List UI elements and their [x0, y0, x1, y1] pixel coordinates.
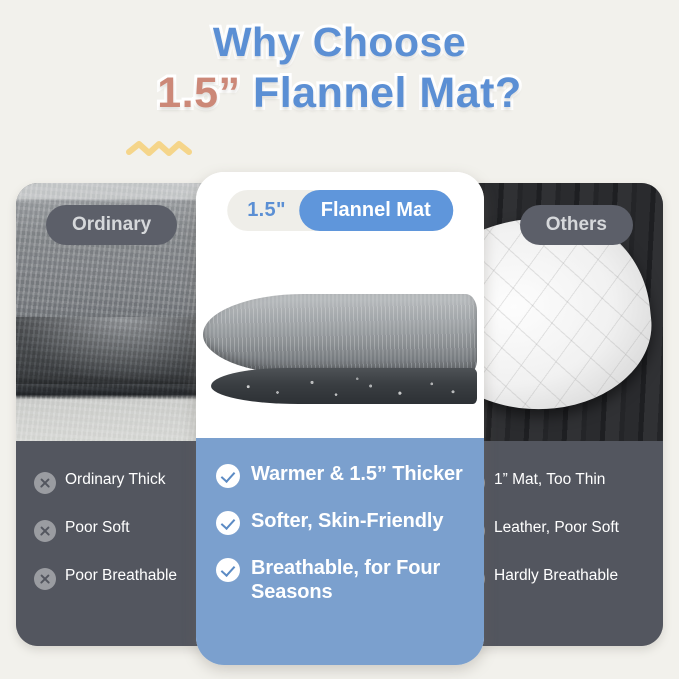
- list-item-label: 1” Mat, Too Thin: [494, 471, 605, 490]
- check-circle-icon: [216, 464, 240, 488]
- list-item: Breathable, for Four Seasons: [216, 556, 466, 605]
- list-item-label: Breathable, for Four Seasons: [251, 556, 466, 605]
- mat-top-layer: [203, 294, 477, 374]
- flannel-mat-product-image: [203, 276, 477, 404]
- list-item-label: Poor Soft: [65, 519, 130, 538]
- badge-thickness-label: 1.5": [227, 199, 299, 222]
- cross-circle-icon: [34, 472, 56, 494]
- list-item-label: Leather, Poor Soft: [494, 519, 619, 538]
- comparison-cards: Ordinary Ordinary Thick Poor Soft Poor B…: [0, 0, 679, 679]
- list-item: Softer, Skin-Friendly: [216, 509, 466, 535]
- list-item-label: Poor Breathable: [65, 567, 177, 586]
- check-circle-icon: [216, 558, 240, 582]
- mat-base-layer: [211, 368, 477, 404]
- flannel-mat-photo: 1.5" Flannel Mat: [196, 172, 484, 438]
- list-item: Warmer & 1.5” Thicker: [216, 462, 466, 488]
- list-item-label: Softer, Skin-Friendly: [251, 509, 443, 533]
- list-item-label: Warmer & 1.5” Thicker: [251, 462, 463, 486]
- badge-product-label: Flannel Mat: [299, 190, 453, 231]
- flannel-mat-feature-list: Warmer & 1.5” Thicker Softer, Skin-Frien…: [196, 438, 484, 665]
- comparison-column-flannel-mat: 1.5" Flannel Mat Warmer & 1.5” Thicker S…: [196, 172, 484, 665]
- cross-circle-icon: [34, 568, 56, 590]
- list-item-label: Hardly Breathable: [494, 567, 618, 586]
- flannel-mat-badge: 1.5" Flannel Mat: [227, 190, 453, 231]
- cross-circle-icon: [34, 520, 56, 542]
- list-item-label: Ordinary Thick: [65, 471, 166, 490]
- check-circle-icon: [216, 511, 240, 535]
- others-badge: Others: [520, 205, 633, 245]
- ordinary-badge: Ordinary: [46, 205, 177, 245]
